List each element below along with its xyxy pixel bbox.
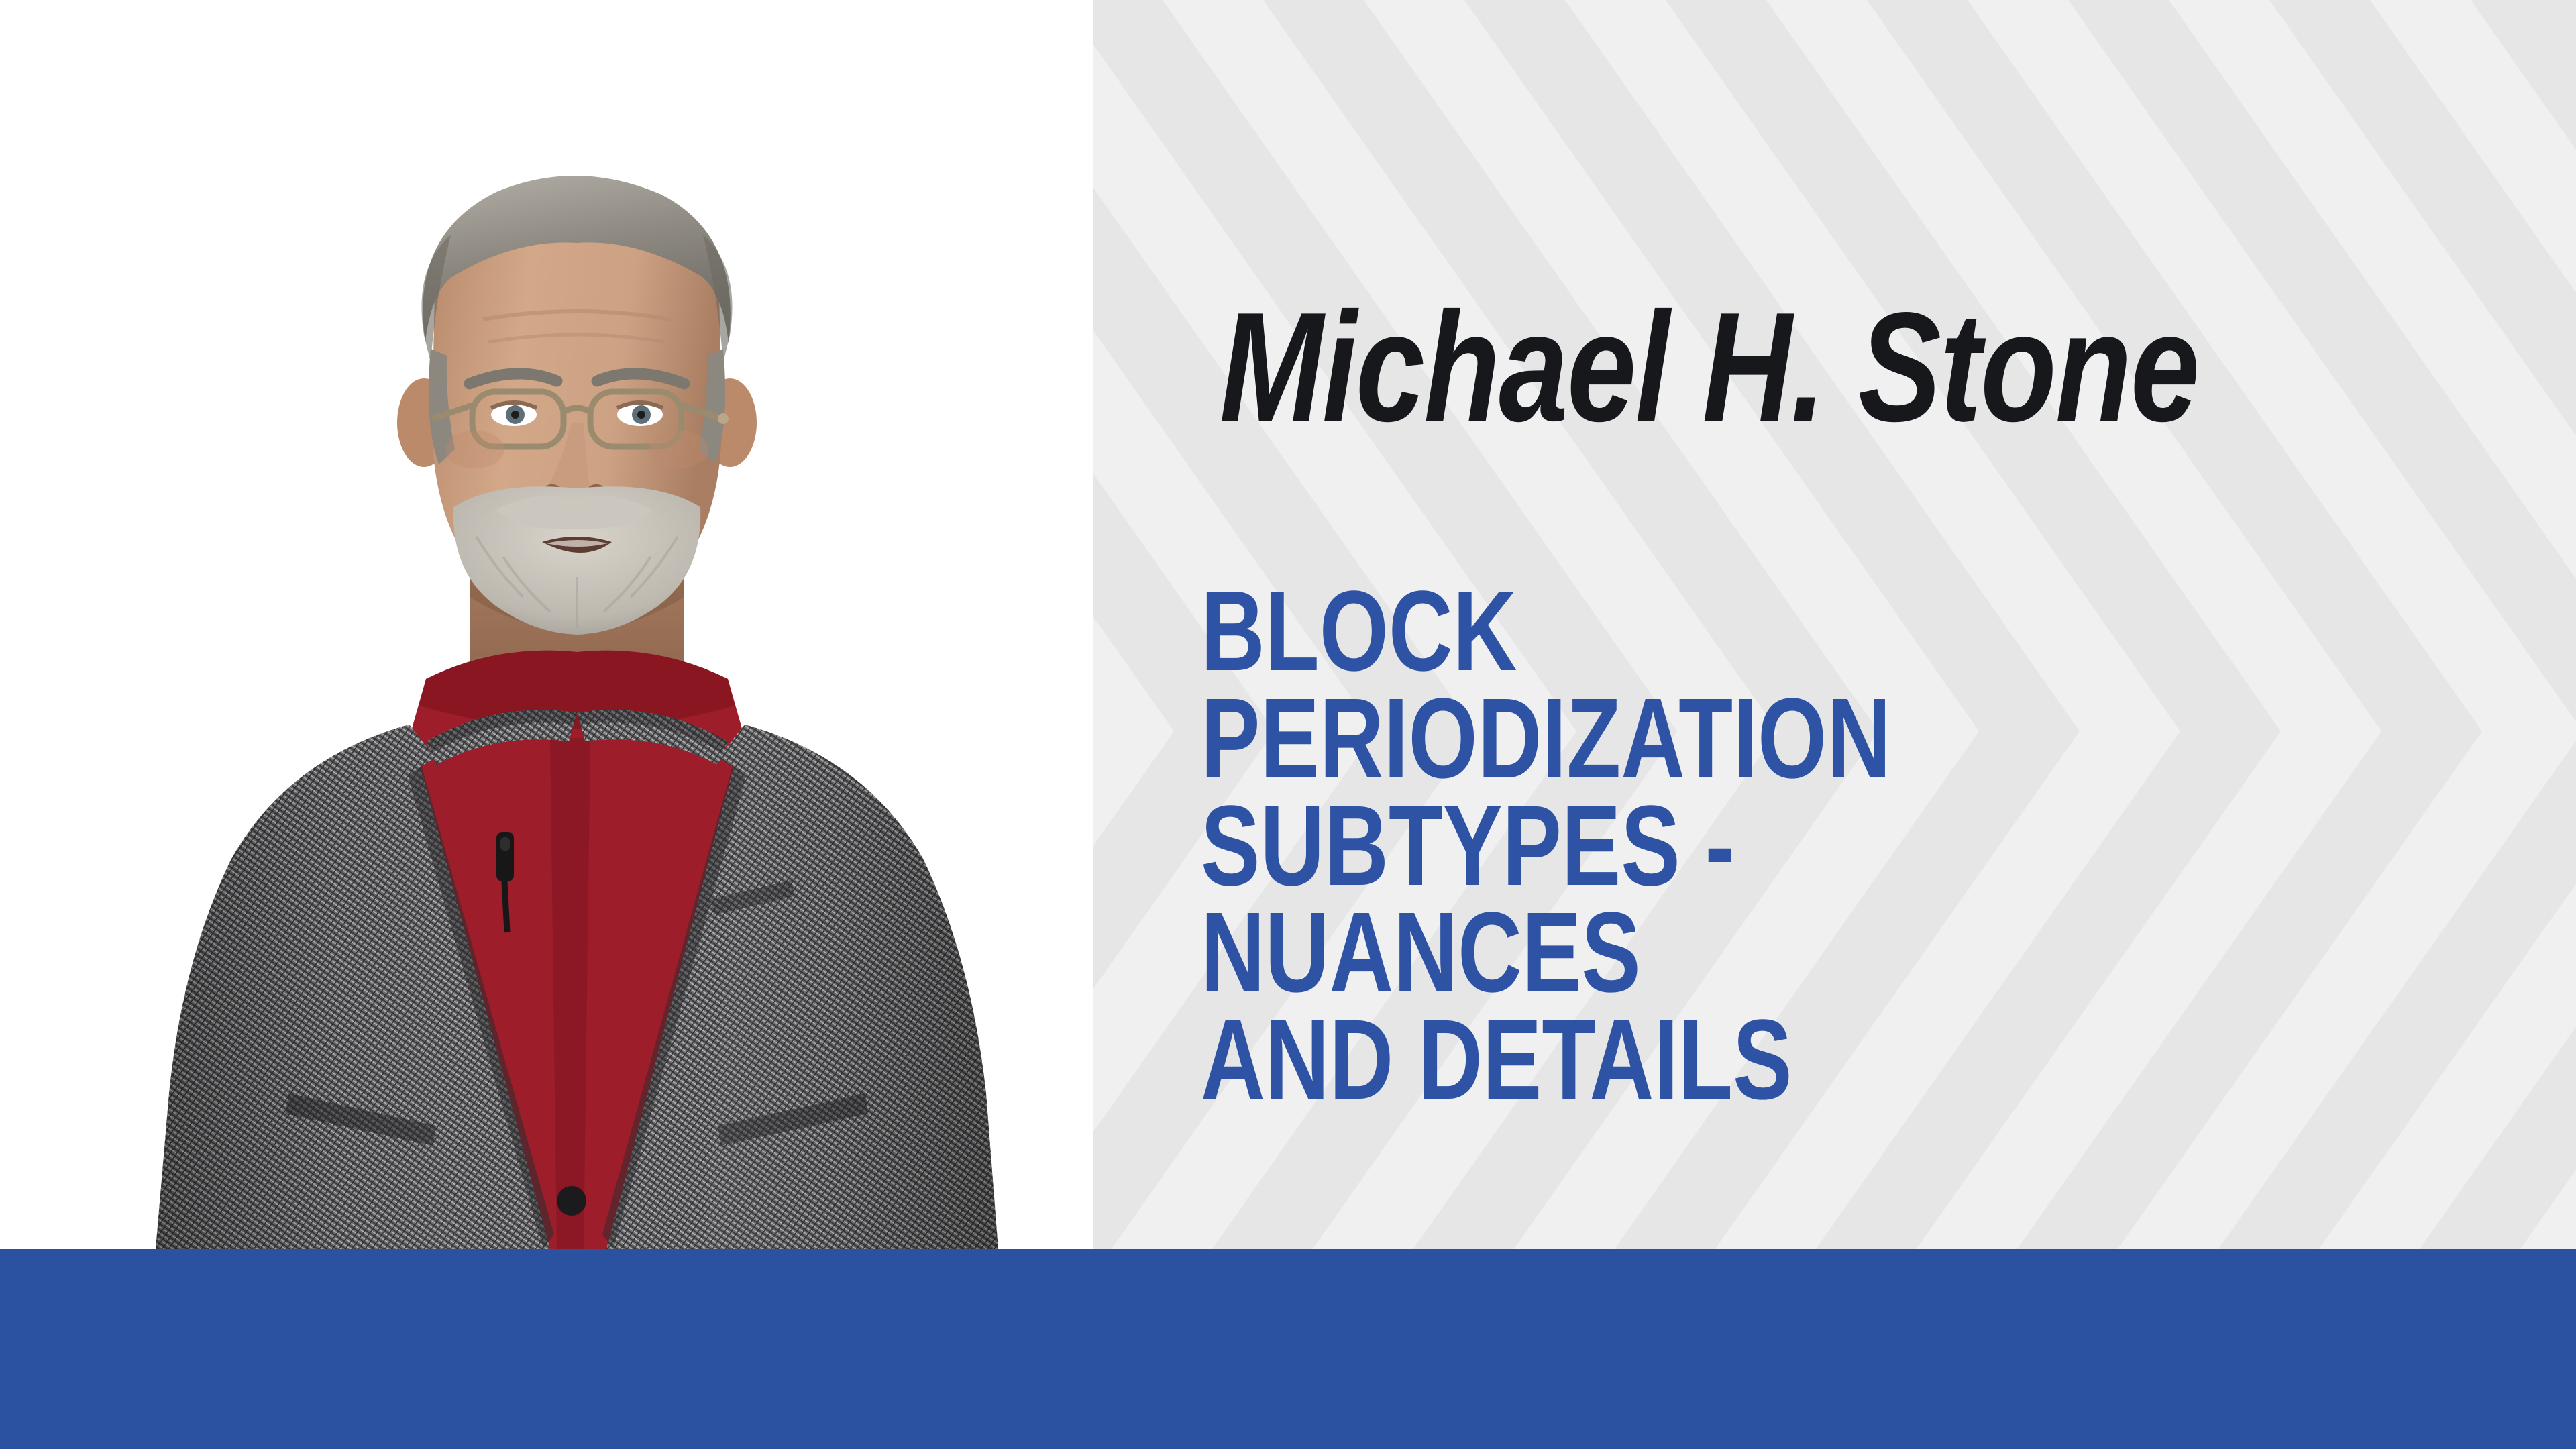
bottom-accent-bar — [0, 1249, 2576, 1449]
presenter-portrait — [121, 134, 1033, 1249]
chevron-pattern — [1093, 0, 2576, 1249]
presenter-photo-panel — [0, 0, 1093, 1249]
title-card: Michael H. Stone BLOCK PERIODIZATION SUB… — [0, 0, 2576, 1449]
chevron-background-panel — [1093, 0, 2576, 1249]
